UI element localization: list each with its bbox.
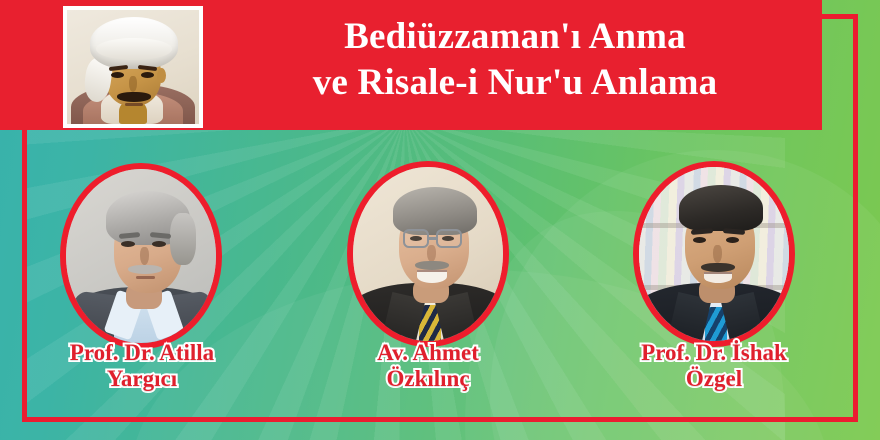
speaker-1-eye-left — [121, 241, 135, 247]
speaker-2-hair — [393, 187, 477, 235]
speaker-name-2: Av. AhmetÖzkılınç — [315, 340, 541, 392]
speaker-photo-atilla-yargici — [60, 163, 222, 349]
speaker-1-photo-inner — [66, 169, 216, 343]
speaker-2-glasses-bridge — [429, 237, 438, 240]
speaker-2-glasses-left — [403, 229, 429, 248]
bediuzzaman-said-nursi-portrait — [67, 10, 199, 124]
speaker-3-eye-right — [726, 237, 739, 243]
portrait-nose — [129, 76, 137, 92]
speaker-1-hair-side — [170, 213, 196, 265]
speaker-name-1-title: Prof. Dr. Atilla — [70, 340, 214, 365]
speaker-name-1-surname: Yargıcı — [107, 366, 177, 391]
speaker-2-mustache — [415, 261, 449, 270]
portrait-turban — [90, 17, 178, 69]
poster-title-line-1: Bediüzzaman'ı Anma — [215, 11, 815, 63]
speaker-1-nose — [140, 247, 149, 265]
speaker-card-1 — [60, 163, 222, 349]
speaker-name-3: Prof. Dr. İshakÖzgel — [590, 340, 838, 392]
event-poster: Bediüzzaman'ı Anma ve Risale-i Nur'u Anl… — [0, 0, 880, 440]
speaker-photo-ishak-ozgel — [633, 161, 795, 347]
speaker-2-smile — [417, 270, 447, 283]
speaker-1-mustache — [128, 265, 162, 274]
portrait-mustache — [117, 92, 151, 102]
speaker-3-mustache — [701, 263, 735, 272]
speaker-3-hair — [679, 185, 763, 231]
speaker-name-2-surname: Özkılınç — [386, 366, 469, 391]
speaker-photo-ahmet-ozkilinc — [347, 161, 509, 347]
bediuzzaman-portrait-frame — [63, 6, 203, 128]
speaker-name-2-title: Av. Ahmet — [377, 340, 479, 365]
portrait-eye-right — [141, 72, 154, 78]
portrait-ear-right — [157, 68, 166, 83]
poster-title-line-2: ve Risale-i Nur'u Anlama — [215, 57, 815, 109]
portrait-eye-left — [111, 72, 124, 78]
speaker-card-2 — [347, 161, 509, 347]
speaker-2-photo-inner — [353, 167, 503, 341]
speaker-3-nose — [713, 245, 722, 263]
speaker-3-photo-inner — [639, 167, 789, 341]
speaker-card-3 — [633, 161, 795, 347]
portrait-mouth — [125, 103, 143, 106]
speaker-3-eye-left — [693, 237, 706, 243]
speaker-1-mouth — [136, 276, 155, 279]
speaker-name-3-surname: Özgel — [686, 366, 742, 391]
speaker-3-smile — [704, 272, 732, 283]
speaker-1-eye-right — [152, 241, 166, 247]
speaker-name-3-title: Prof. Dr. İshak — [641, 340, 787, 365]
speaker-2-glasses-right — [436, 229, 462, 248]
speaker-2-nose — [427, 245, 436, 262]
speaker-name-1: Prof. Dr. AtillaYargıcı — [22, 340, 262, 392]
